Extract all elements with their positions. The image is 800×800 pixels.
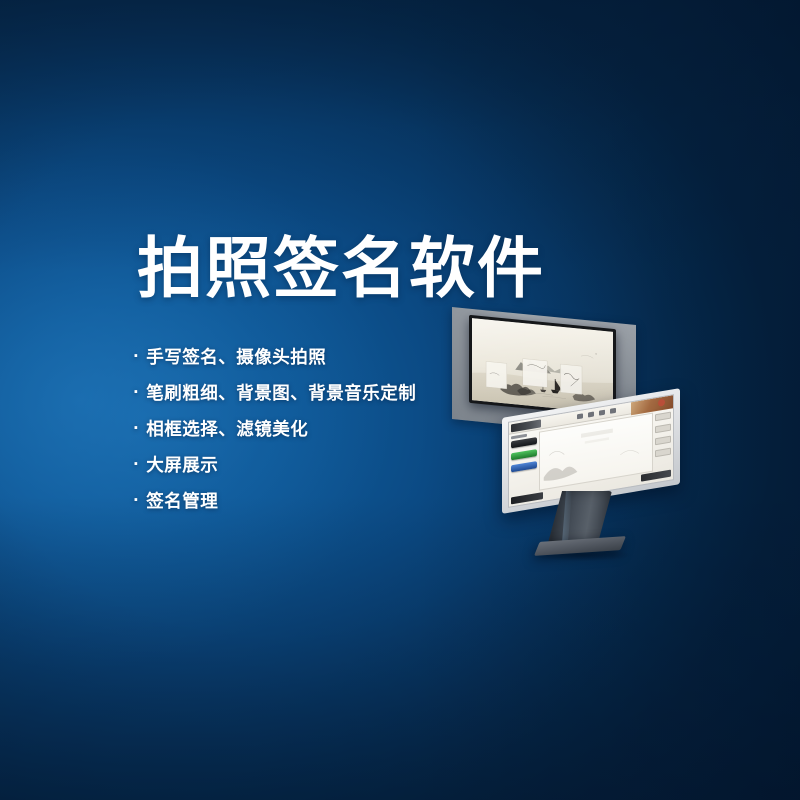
kiosk-pedestal — [538, 491, 622, 553]
bullet-dot-icon: · — [133, 385, 139, 400]
slide-canvas: 拍照签名软件 · 手写签名、摄像头拍照 · 笔刷粗细、背景图、背景音乐定制 · … — [0, 0, 800, 800]
menu-icon — [588, 411, 594, 417]
list-item-label: 相框选择、滤镜美化 — [146, 422, 308, 440]
tool-button-blue — [511, 461, 537, 472]
list-item: · 手写签名、摄像头拍照 — [133, 350, 416, 368]
list-item: · 笔刷粗细、背景图、背景音乐定制 — [133, 386, 416, 404]
list-item-label: 笔刷粗细、背景图、背景音乐定制 — [146, 386, 416, 404]
tool-button-save — [655, 448, 671, 458]
menu-icon — [610, 408, 616, 414]
pedestal-column — [548, 491, 612, 543]
product-image-signature-kiosk — [430, 295, 680, 570]
bullet-dot-icon: · — [133, 349, 139, 364]
tool-button-music — [655, 436, 671, 446]
tool-button-frame — [655, 412, 671, 422]
pedestal-highlight — [562, 491, 572, 543]
right-tool-palette — [655, 412, 671, 463]
left-tool-palette — [511, 432, 537, 477]
bullet-dot-icon: · — [133, 493, 139, 508]
toolbar-menu-icons — [577, 408, 616, 420]
list-item-label: 手写签名、摄像头拍照 — [146, 350, 326, 368]
bullet-dot-icon: · — [133, 421, 139, 436]
list-item: · 签名管理 — [133, 494, 416, 512]
tool-button-green — [511, 449, 537, 460]
bullet-dot-icon: · — [133, 457, 139, 472]
menu-icon — [577, 413, 583, 419]
list-item-label: 大屏展示 — [146, 458, 218, 476]
tool-button-filter — [655, 424, 671, 434]
ink-landscape-artwork — [472, 318, 613, 414]
list-item-label: 签名管理 — [146, 494, 218, 512]
record-indicator-icon — [658, 399, 665, 407]
list-item: · 相框选择、滤镜美化 — [133, 422, 416, 440]
app-logo — [511, 419, 541, 432]
menu-icon — [599, 410, 605, 416]
wall-display-screen — [472, 318, 613, 414]
page-title: 拍照签名软件 — [137, 236, 545, 302]
feature-list: · 手写签名、摄像头拍照 · 笔刷粗细、背景图、背景音乐定制 · 相框选择、滤镜… — [133, 350, 416, 530]
list-item: · 大屏展示 — [133, 458, 416, 476]
